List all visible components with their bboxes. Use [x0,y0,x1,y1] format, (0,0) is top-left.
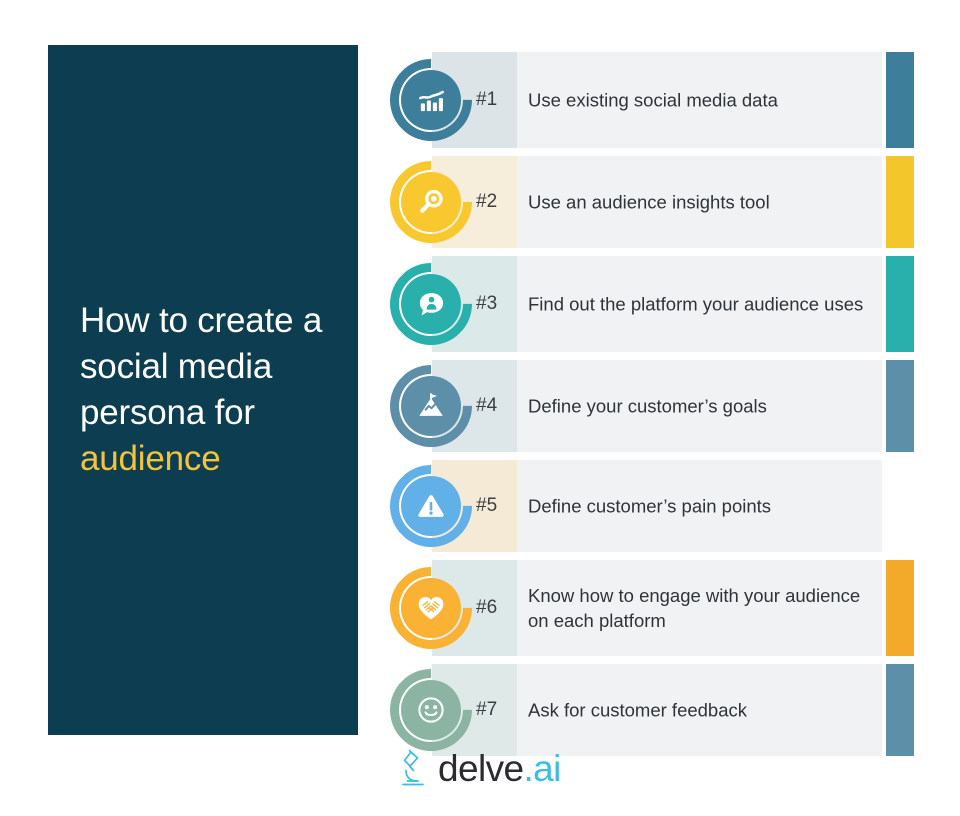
step-label: Define your customer’s goals [528,394,868,419]
step-number: #4 [476,395,520,417]
step-number: #6 [476,597,520,619]
page-title-main: How to create a social media persona for [80,301,322,432]
step-label: Find out the platform your audience uses [528,292,868,317]
step-icon-badge[interactable] [390,59,472,141]
brand-name-main: delve [438,748,523,789]
step-color-bar [886,156,914,248]
steps-list: #1Use existing social media data #2Use a… [390,52,914,732]
step-icon-badge[interactable] [390,669,472,751]
step-row[interactable]: #2Use an audience insights tool [390,156,914,248]
step-label: Know how to engage with your audience on… [528,583,868,633]
brand-logo[interactable]: delve.ai [398,748,561,790]
step-icon-badge[interactable] [390,263,472,345]
handshake-heart-icon [401,578,461,638]
speech-bubble-person-icon [401,274,461,334]
brand-name: delve.ai [438,748,561,790]
microscope-icon [398,748,428,790]
step-row[interactable]: #4Define your customer’s goals [390,360,914,452]
step-icon-badge[interactable] [390,567,472,649]
step-row[interactable]: #1Use existing social media data [390,52,914,148]
step-color-bar [886,52,914,148]
step-icon-badge[interactable] [390,365,472,447]
step-icon-badge[interactable] [390,465,472,547]
hero-panel: How to create a social media persona for… [48,45,358,735]
step-color-bar [886,560,914,656]
step-color-bar [886,360,914,452]
smiley-face-icon [401,680,461,740]
step-color-bar [886,256,914,352]
bar-chart-icon [401,70,461,130]
step-label: Use existing social media data [528,88,868,113]
infographic-canvas: How to create a social media persona for… [0,0,960,816]
step-color-bar [886,664,914,756]
magnifier-icon [401,172,461,232]
step-number: #3 [476,293,520,315]
step-row[interactable]: #7Ask for customer feedback [390,664,914,756]
step-number: #1 [476,89,520,111]
brand-name-suffix: .ai [523,748,560,789]
step-label: Define customer’s pain points [528,494,868,519]
step-color-bar [886,460,914,552]
step-row[interactable]: #5Define customer’s pain points [390,460,914,552]
page-title-accent: audience [80,439,220,478]
step-row[interactable]: #6Know how to engage with your audience … [390,560,914,656]
warning-triangle-icon [401,476,461,536]
mountain-flag-icon [401,376,461,436]
step-number: #2 [476,191,520,213]
step-number: #5 [476,495,520,517]
step-row[interactable]: #3Find out the platform your audience us… [390,256,914,352]
page-title: How to create a social media persona for… [48,298,358,482]
step-number: #7 [476,699,520,721]
step-label: Use an audience insights tool [528,190,868,215]
step-label: Ask for customer feedback [528,698,868,723]
step-icon-badge[interactable] [390,161,472,243]
